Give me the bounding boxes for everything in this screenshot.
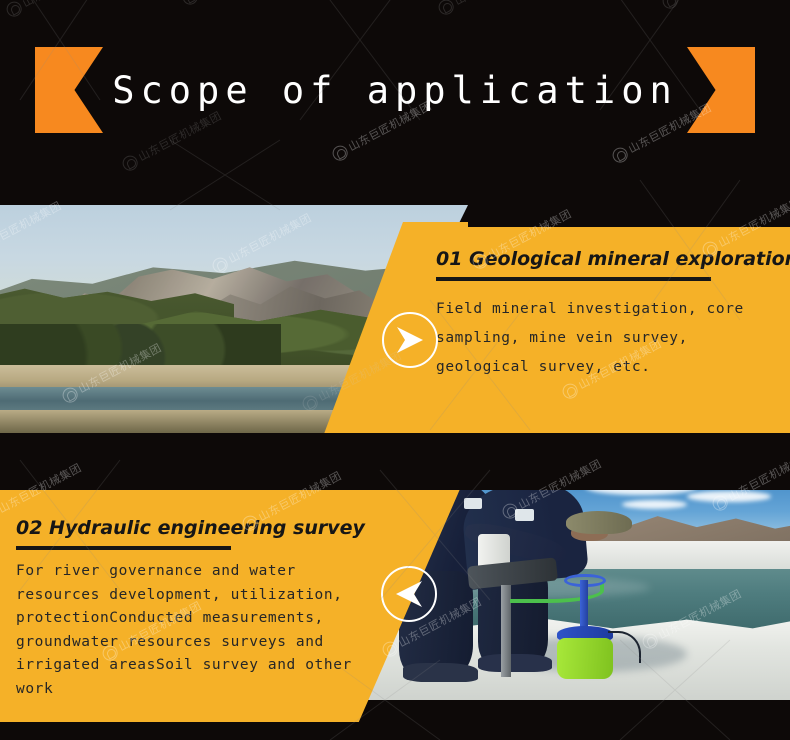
section-02-underline <box>16 546 231 550</box>
section-02-body-line: protectionConducted measurements, <box>16 607 366 631</box>
section-01-body-line: Field mineral investigation, core <box>436 295 776 324</box>
row1-bottom-fill <box>0 433 790 453</box>
chevron-left-banner-icon <box>35 47 103 133</box>
section-01-body: Field mineral investigation, core sampli… <box>436 295 776 382</box>
row2-bottom-fill <box>0 722 790 740</box>
page-root: Scope of application 01 Geological miner… <box>0 0 790 740</box>
header-divider-fill <box>468 205 790 227</box>
section-02-body-line: For river governance and water <box>16 560 366 584</box>
section-01-title: 01 Geological mineral exploration <box>436 248 776 270</box>
arrow-left-circle-icon[interactable] <box>381 566 437 622</box>
section-02-body-line: work <box>16 678 366 702</box>
section-02-text-block: 02 Hydraulic engineering survey For rive… <box>16 517 366 701</box>
chevron-right-banner-icon <box>687 47 755 133</box>
arrow-right-circle-icon[interactable] <box>382 312 438 368</box>
worker-2-cap <box>566 511 631 534</box>
header-title-bar: Scope of application <box>35 47 755 133</box>
section-01-text-block: 01 Geological mineral exploration Field … <box>436 248 776 382</box>
section-01-body-line: sampling, mine vein survey, <box>436 324 776 353</box>
section-02-title: 02 Hydraulic engineering survey <box>16 517 366 539</box>
section-02-body-line: resources development, utilization, <box>16 584 366 608</box>
header-banner: Scope of application <box>0 0 790 200</box>
section-02-body-line: groundwater resources surveys and <box>16 631 366 655</box>
sprayer-pump-rod <box>580 580 587 631</box>
section-01-underline <box>436 277 711 281</box>
page-title: Scope of application <box>103 47 687 133</box>
sprayer-tank <box>557 638 613 679</box>
row2-top-fill <box>0 470 790 490</box>
section-02-body-line: irrigated areasSoil survey and other <box>16 654 366 678</box>
section-02-body: For river governance and water resources… <box>16 560 366 701</box>
section-01-body-line: geological survey, etc. <box>436 353 776 382</box>
